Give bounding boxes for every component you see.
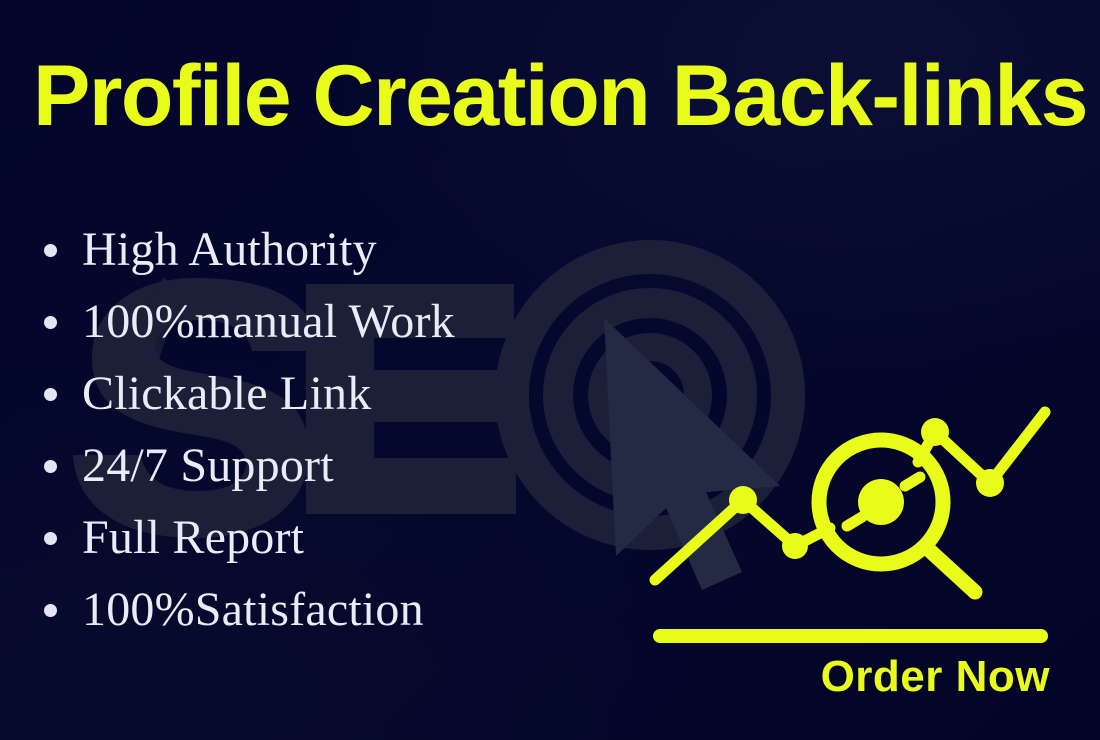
feature-label: Clickable Link bbox=[82, 368, 371, 420]
list-item: Full Report bbox=[36, 502, 636, 574]
list-item: 100%manual Work bbox=[36, 286, 636, 358]
bullet-icon bbox=[44, 460, 57, 473]
bullet-icon bbox=[44, 532, 57, 545]
list-item: 24/7 Support bbox=[36, 430, 636, 502]
seo-analytics-graphic bbox=[630, 380, 1090, 670]
bullet-icon bbox=[44, 388, 57, 401]
magnifier-icon bbox=[819, 440, 975, 592]
bullet-icon bbox=[44, 316, 57, 329]
list-item: 100%Satisfaction bbox=[36, 574, 636, 646]
feature-list: High Authority 100%manual Work Clickable… bbox=[36, 214, 636, 646]
list-item: Clickable Link bbox=[36, 358, 636, 430]
feature-label: High Authority bbox=[82, 224, 377, 276]
trend-dash-inner-upper bbox=[905, 477, 920, 486]
feature-label: 24/7 Support bbox=[82, 440, 334, 492]
feature-label: Full Report bbox=[82, 512, 304, 564]
list-item: High Authority bbox=[36, 214, 636, 286]
baseline-bar bbox=[653, 629, 1048, 643]
trend-segment-left bbox=[655, 500, 743, 580]
bullet-icon bbox=[44, 244, 57, 257]
order-now-cta[interactable]: Order Now bbox=[630, 652, 1050, 702]
promo-poster: Profile Creation Back-links High Authori… bbox=[0, 0, 1100, 740]
trend-dash-inner-lower bbox=[847, 517, 862, 526]
feature-label: 100%Satisfaction bbox=[82, 584, 424, 636]
feature-label: 100%manual Work bbox=[82, 296, 455, 348]
page-title: Profile Creation Back-links bbox=[33, 50, 1073, 142]
bullet-icon bbox=[44, 604, 57, 617]
